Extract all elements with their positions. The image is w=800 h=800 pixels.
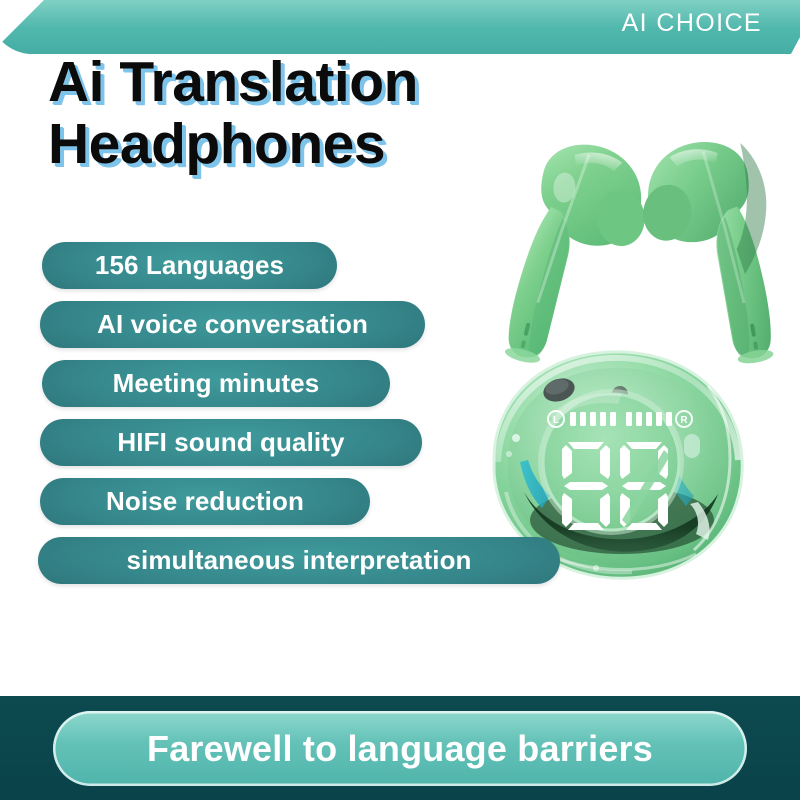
top-banner-content: AI CHOICE [0,0,800,54]
feature-pill-hifi-sound[interactable]: HIFI sound quality [40,419,422,466]
feature-pill-label: 156 Languages [42,242,337,289]
feature-pill-list: 156 Languages AI voice conversation Meet… [0,242,620,596]
feature-pill-label: AI voice conversation [40,301,425,348]
feature-pill-label: Meeting minutes [42,360,390,407]
feature-pill-label: Noise reduction [40,478,370,525]
feature-pill-label: simultaneous interpretation [38,537,560,584]
footer-tagline-capsule[interactable]: Farewell to language barriers [53,711,747,786]
feature-pill-simultaneous-interpretation[interactable]: simultaneous interpretation [38,537,560,584]
poster-canvas: AI CHOICE Ai Translation Headphones [0,0,800,800]
footer-tagline: Farewell to language barriers [53,711,747,786]
feature-pill-noise-reduction[interactable]: Noise reduction [40,478,370,525]
ai-choice-badge: AI CHOICE [622,9,762,38]
right-earbud [625,132,794,379]
feature-pill-ai-voice[interactable]: AI voice conversation [40,301,425,348]
feature-pill-label: HIFI sound quality [40,419,422,466]
headline-line-1: Ai Translation [48,52,568,114]
footer-bar: Farewell to language barriers [0,696,800,800]
feature-pill-languages[interactable]: 156 Languages [42,242,337,289]
feature-pill-meeting-minutes[interactable]: Meeting minutes [42,360,390,407]
right-battery-label: R [680,415,688,426]
